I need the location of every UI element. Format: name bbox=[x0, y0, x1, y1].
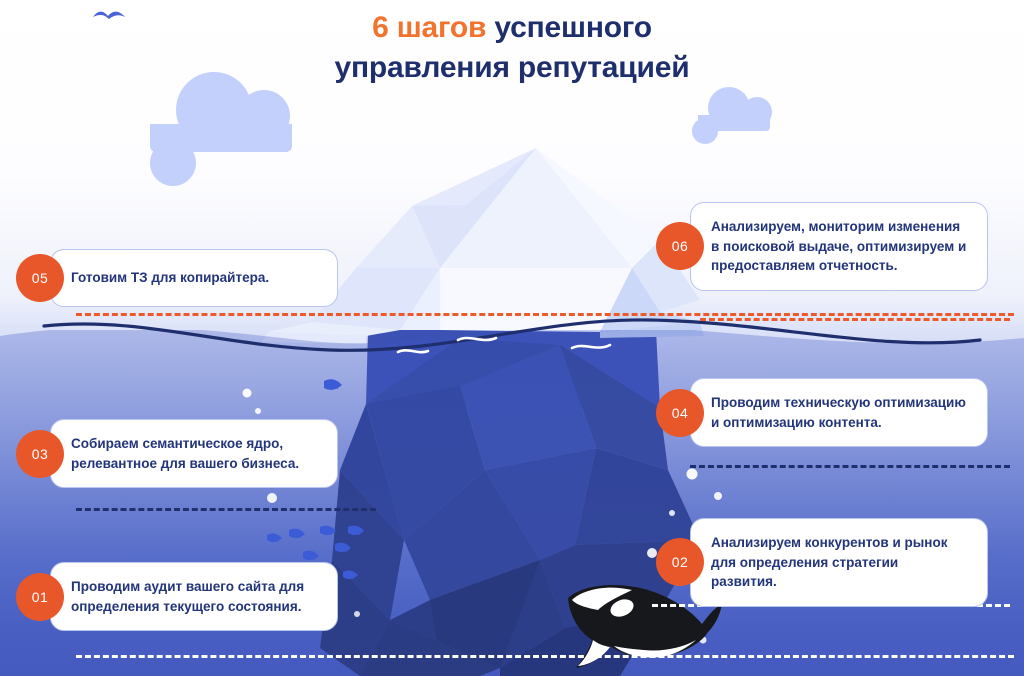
page-title: 6 шагов успешного управления репутацией bbox=[0, 8, 1024, 88]
step-item-04[interactable]: 04 Проводим техническую оптимизацию и оп… bbox=[656, 378, 988, 447]
separator-dashed-01 bbox=[76, 655, 1014, 658]
step-card-01: Проводим аудит вашего сайта для определе… bbox=[50, 562, 338, 631]
step-item-03[interactable]: 03 Собираем семантическое ядро, релевант… bbox=[16, 419, 338, 488]
step-card-03: Собираем семантическое ядро, релевантное… bbox=[50, 419, 338, 488]
step-item-02[interactable]: 02 Анализируем конкурентов и рынок для о… bbox=[656, 518, 988, 607]
step-badge-05: 05 bbox=[16, 254, 64, 302]
step-badge-04: 04 bbox=[656, 389, 704, 437]
step-card-05: Готовим ТЗ для копирайтера. bbox=[50, 249, 338, 307]
step-badge-01: 01 bbox=[16, 573, 64, 621]
separator-dashed-03 bbox=[76, 508, 376, 511]
separator-dashed-04 bbox=[690, 465, 1010, 468]
step-card-02: Анализируем конкурентов и рынок для опре… bbox=[690, 518, 988, 607]
separator-dashed-06 bbox=[700, 318, 1010, 321]
step-item-05[interactable]: 05 Готовим ТЗ для копирайтера. bbox=[16, 249, 338, 307]
infographic-canvas: 6 шагов успешного управления репутацией … bbox=[0, 0, 1024, 676]
step-item-06[interactable]: 06 Анализируем, мониторим изменения в по… bbox=[656, 202, 988, 291]
title-highlight: 6 шагов bbox=[372, 11, 486, 44]
step-card-04: Проводим техническую оптимизацию и оптим… bbox=[690, 378, 988, 447]
title-line2: управления репутацией bbox=[335, 51, 690, 84]
step-badge-02: 02 bbox=[656, 538, 704, 586]
step-badge-03: 03 bbox=[16, 430, 64, 478]
step-badge-06: 06 bbox=[656, 222, 704, 270]
step-card-06: Анализируем, мониторим изменения в поиск… bbox=[690, 202, 988, 291]
step-item-01[interactable]: 01 Проводим аудит вашего сайта для опред… bbox=[16, 562, 338, 631]
separator-dashed-05 bbox=[76, 313, 1014, 316]
title-rest: успешного bbox=[486, 11, 652, 44]
